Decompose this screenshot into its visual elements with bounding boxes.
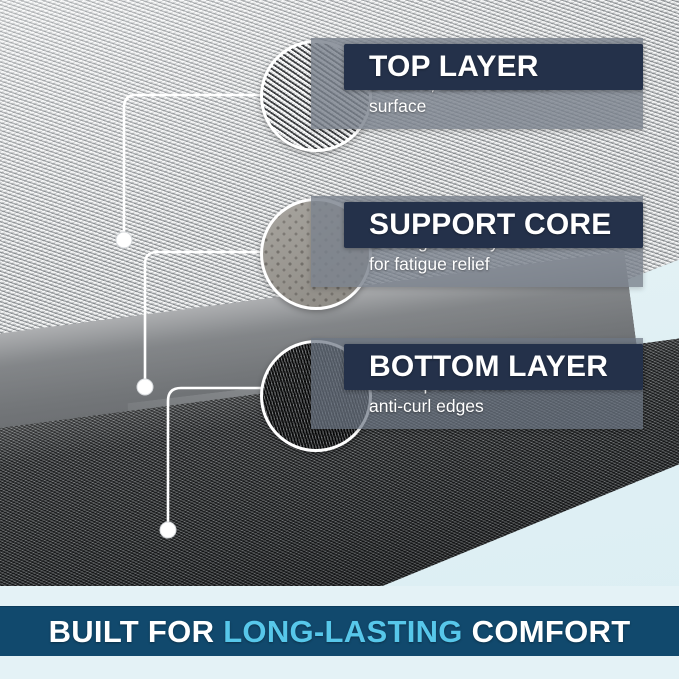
tagline-text: BUILT FOR LONG-LASTING COMFORT bbox=[49, 614, 631, 650]
banner-spacer-top bbox=[0, 586, 679, 606]
callout-top-layer-title: TOP LAYER bbox=[369, 52, 539, 82]
tagline-highlight: LONG-LASTING bbox=[223, 614, 463, 649]
callout-bottom-layer-desc-line2: anti-curl edges bbox=[369, 396, 631, 418]
callout-support-core-title: SUPPORT CORE bbox=[369, 210, 611, 240]
callout-bottom-layer-header: BOTTOM LAYER bbox=[344, 344, 643, 390]
banner-spacer-bottom bbox=[0, 656, 679, 679]
product-infographic: Durable, stain-resistant surface TOP LAY… bbox=[0, 0, 679, 679]
callout-top-layer-header: TOP LAYER bbox=[344, 44, 643, 90]
tagline-banner: BUILT FOR LONG-LASTING COMFORT bbox=[0, 606, 679, 658]
callout-support-core-header: SUPPORT CORE bbox=[344, 202, 643, 248]
callout-bottom-layer: Non-slip base with anti-curl edges BOTTO… bbox=[311, 338, 643, 429]
callout-support-core: 3/4" high-density foam for fatigue relie… bbox=[311, 196, 643, 287]
tagline-suffix: COMFORT bbox=[463, 614, 631, 649]
callout-top-layer: Durable, stain-resistant surface TOP LAY… bbox=[311, 38, 643, 129]
tagline-prefix: BUILT FOR bbox=[49, 614, 224, 649]
callout-top-layer-desc-line2: surface bbox=[369, 96, 631, 118]
callout-bottom-layer-title: BOTTOM LAYER bbox=[369, 352, 608, 382]
callout-support-core-desc-line2: for fatigue relief bbox=[369, 254, 631, 276]
